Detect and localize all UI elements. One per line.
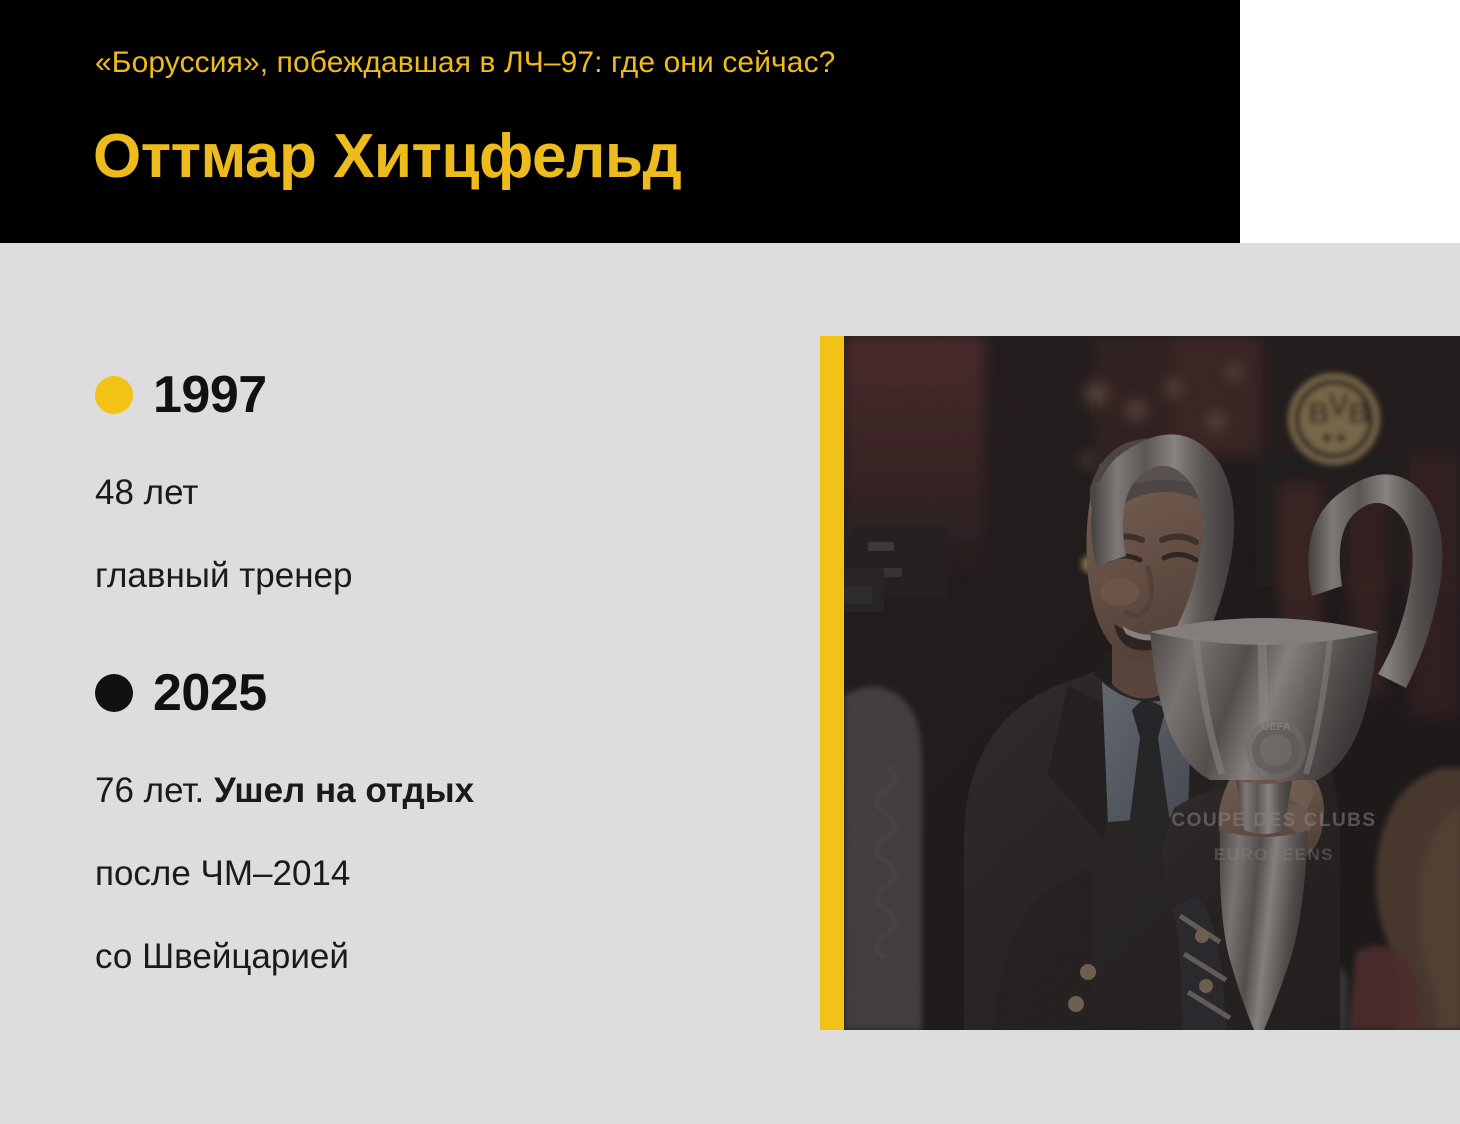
photo-hitzfeld-trophy: B V B: [844, 336, 1460, 1030]
photo-container: B V B: [820, 336, 1460, 1030]
bullet-dot-icon-black: [95, 674, 133, 712]
timeline-year-label: 2025: [153, 667, 267, 719]
timeline-detail-role: главный тренер: [95, 558, 755, 593]
timeline-year-row: 2025: [95, 663, 755, 723]
timeline-detail-age-status: 76 лет. Ушел на отдых: [95, 773, 755, 808]
timeline-year-row: 1997: [95, 365, 755, 425]
timeline-detail-team: со Швейцарией: [95, 939, 755, 974]
timeline-year-label: 1997: [153, 369, 267, 421]
header-kicker: «Боруссия», побеждавшая в ЛЧ–97: где они…: [95, 45, 1195, 81]
photo-accent-bar: [820, 336, 844, 1030]
timeline-detail-status-emphasis: Ушел на отдых: [214, 771, 474, 810]
page-title: Оттмар Хитцфельд: [93, 124, 1213, 189]
timeline-entry-2025: 2025 76 лет. Ушел на отдых после ЧМ–2014…: [95, 663, 755, 974]
content-column: 1997 48 лет главный тренер 2025 76 лет. …: [0, 243, 820, 1124]
timeline-detail-since: после ЧМ–2014: [95, 856, 755, 891]
bullet-dot-icon-yellow: [95, 376, 133, 414]
infographic-card: «Боруссия», побеждавшая в ЛЧ–97: где они…: [0, 0, 1460, 1124]
logo-panel: [1240, 0, 1460, 243]
timeline-entry-1997: 1997 48 лет главный тренер: [95, 365, 755, 593]
timeline-detail-age-text: 76 лет.: [95, 771, 214, 810]
timeline-detail-age: 48 лет: [95, 475, 755, 510]
